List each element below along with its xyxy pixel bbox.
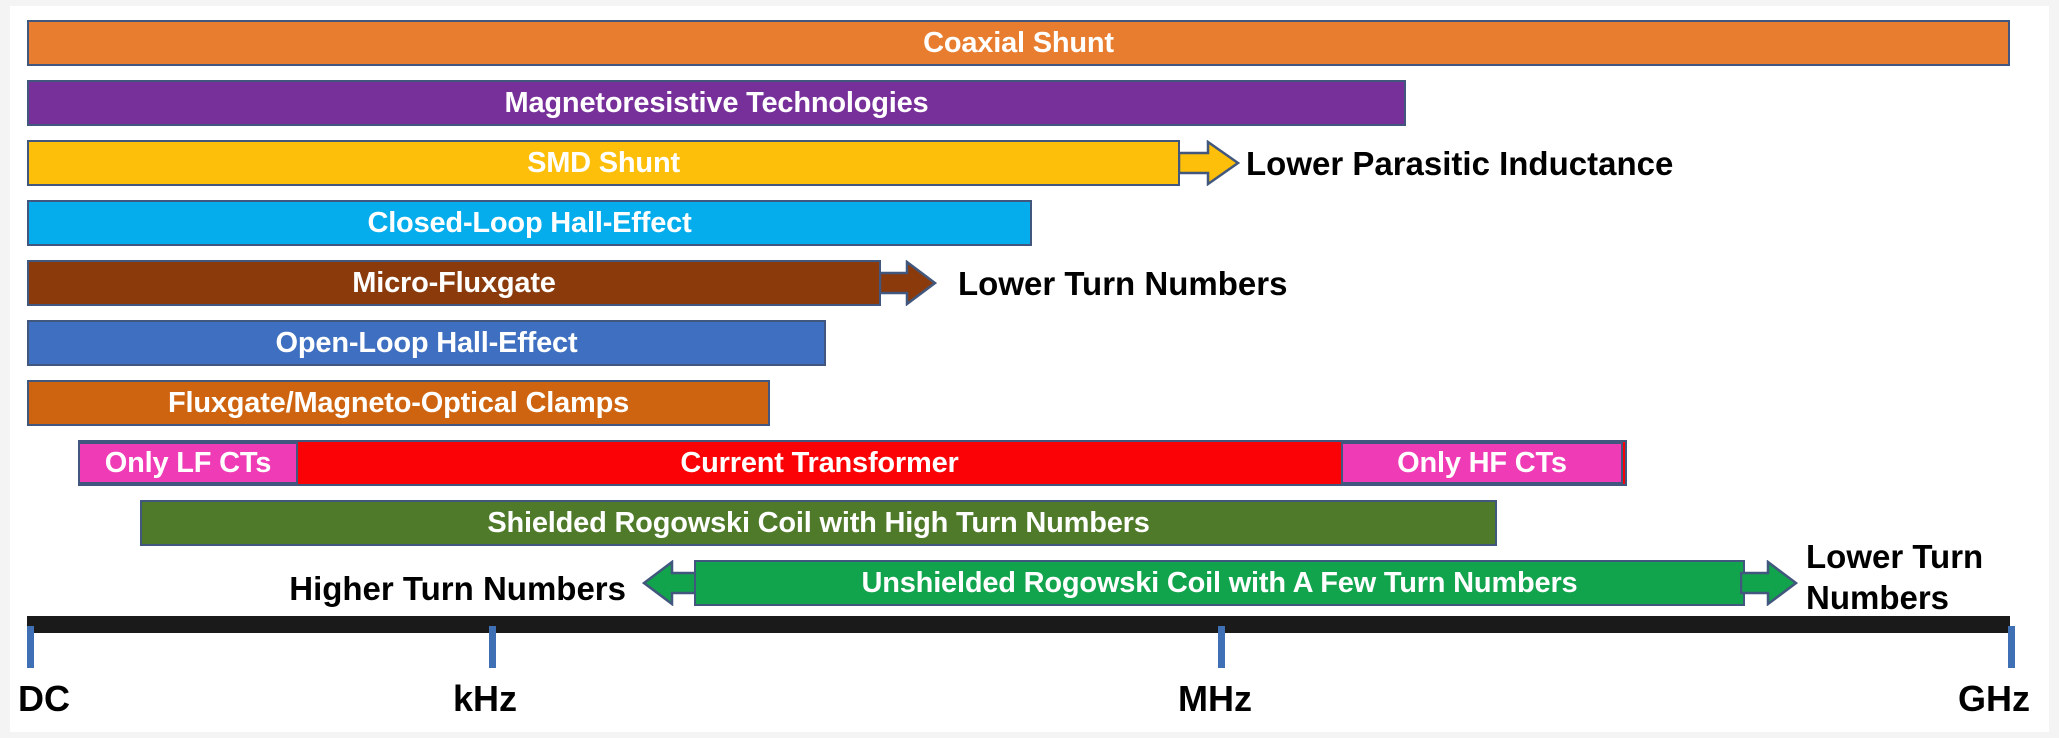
- bar-label-open-loop-hall-effect: Open-Loop Hall-Effect: [276, 329, 578, 358]
- axis-label-ghz: GHz: [1958, 678, 2030, 720]
- axis-tick-dc: [27, 626, 34, 668]
- arrow-right-micro-fluxgate: [879, 260, 937, 306]
- bar-magnetoresistive-technologies[interactable]: Magnetoresistive Technologies: [27, 80, 1406, 126]
- bar-micro-fluxgate[interactable]: Micro-Fluxgate: [27, 260, 881, 306]
- arrow-left-unshielded-rogowski: [642, 560, 700, 606]
- bar-label-unshielded-rogowski-coil: Unshielded Rogowski Coil with A Few Turn…: [862, 569, 1578, 598]
- segment-label-only-lf-cts: Only LF CTs: [105, 449, 271, 478]
- bar-label-magnetoresistive-technologies: Magnetoresistive Technologies: [505, 89, 929, 118]
- axis-tick-khz: [489, 626, 496, 668]
- axis-label-text: MHz: [1178, 678, 1252, 719]
- bar-open-loop-hall-effect[interactable]: Open-Loop Hall-Effect: [27, 320, 826, 366]
- segment-only-hf-cts[interactable]: Only HF CTs: [1341, 442, 1623, 484]
- segment-current-transformer[interactable]: Current Transformer: [298, 442, 1341, 484]
- annotation-higher-turn-numbers: Higher Turn Numbers: [206, 572, 626, 605]
- bar-label-closed-loop-hall-effect: Closed-Loop Hall-Effect: [367, 209, 691, 238]
- annotation-text: Lower Parasitic Inductance: [1246, 145, 1673, 182]
- segment-label-current-transformer: Current Transformer: [680, 449, 958, 478]
- bar-coaxial-shunt[interactable]: Coaxial Shunt: [27, 20, 2010, 66]
- annotation-text-line2: Numbers: [1806, 579, 1949, 616]
- axis-label-text: kHz: [453, 678, 517, 719]
- axis-tick-ghz: [2008, 626, 2015, 668]
- bar-smd-shunt[interactable]: SMD Shunt: [27, 140, 1180, 186]
- bar-closed-loop-hall-effect[interactable]: Closed-Loop Hall-Effect: [27, 200, 1032, 246]
- annotation-text-line1: Lower Turn: [1806, 538, 1983, 575]
- axis-label-mhz: MHz: [1178, 678, 1252, 720]
- axis-label-dc: DC: [18, 678, 70, 720]
- annotation-text: Higher Turn Numbers: [289, 570, 626, 607]
- chart-canvas: Coaxial Shunt Magnetoresistive Technolog…: [10, 6, 2049, 732]
- arrow-right-smd-shunt: [1178, 140, 1240, 186]
- bar-current-transformer[interactable]: Only LF CTs Current Transformer Only HF …: [78, 440, 1627, 486]
- axis-label-text: GHz: [1958, 678, 2030, 719]
- bar-label-fluxgate-magneto-optical-clamps: Fluxgate/Magneto-Optical Clamps: [168, 389, 629, 418]
- bar-shielded-rogowski-coil[interactable]: Shielded Rogowski Coil with High Turn Nu…: [140, 500, 1497, 546]
- bar-label-shielded-rogowski-coil: Shielded Rogowski Coil with High Turn Nu…: [487, 509, 1149, 538]
- plot-area: Coaxial Shunt Magnetoresistive Technolog…: [10, 6, 2049, 732]
- bar-label-smd-shunt: SMD Shunt: [527, 149, 680, 178]
- axis-label-text: DC: [18, 678, 70, 719]
- annotation-lower-parasitic-inductance: Lower Parasitic Inductance: [1246, 147, 1673, 180]
- frequency-axis-line: [27, 616, 2010, 633]
- bar-unshielded-rogowski-coil[interactable]: Unshielded Rogowski Coil with A Few Turn…: [694, 560, 1745, 606]
- chart-root: Coaxial Shunt Magnetoresistive Technolog…: [0, 0, 2059, 738]
- annotation-lower-turn-numbers: Lower Turn Numbers: [958, 267, 1287, 300]
- axis-tick-mhz: [1218, 626, 1225, 668]
- annotation-text: Lower Turn Numbers: [958, 265, 1287, 302]
- segment-label-only-hf-cts: Only HF CTs: [1397, 449, 1567, 478]
- axis-label-khz: kHz: [453, 678, 517, 720]
- annotation-lower-turn-numbers-right: Lower Turn Numbers: [1806, 536, 2038, 619]
- segment-only-lf-cts[interactable]: Only LF CTs: [78, 442, 298, 484]
- bar-fluxgate-magneto-optical-clamps[interactable]: Fluxgate/Magneto-Optical Clamps: [27, 380, 770, 426]
- bar-label-coaxial-shunt: Coaxial Shunt: [923, 29, 1114, 58]
- arrow-right-unshielded-rogowski: [1740, 560, 1798, 606]
- bar-label-micro-fluxgate: Micro-Fluxgate: [352, 269, 555, 298]
